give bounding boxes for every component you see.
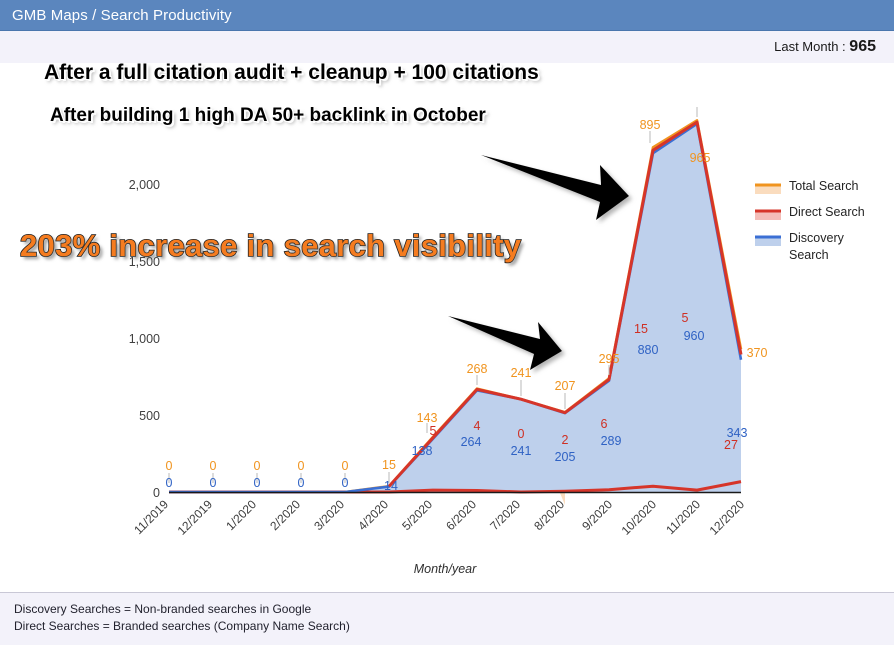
arrow-pointing-to-mid-year-growth bbox=[448, 316, 562, 370]
last-month-stat: Last Month : 965 bbox=[774, 38, 894, 56]
subheader-bar: Last Month : 965 bbox=[0, 31, 894, 63]
legend-label-total-search: Total Search bbox=[789, 179, 859, 193]
x-tick-1: 12/2019 bbox=[175, 497, 216, 538]
discovery-search-area bbox=[169, 124, 741, 492]
y-tick-500: 500 bbox=[139, 409, 160, 423]
label-direct-6: 5 bbox=[430, 424, 437, 438]
label-total-6: 143 bbox=[417, 411, 438, 425]
x-tick-10: 9/2020 bbox=[579, 497, 615, 533]
label-disc-10: 289 bbox=[601, 434, 622, 448]
arrow-pointing-to-october-peak bbox=[481, 155, 629, 220]
label-direct-8: 0 bbox=[518, 427, 525, 441]
x-tick-13: 12/2020 bbox=[707, 497, 748, 538]
footer-note-direct: Direct Searches = Branded searches (Comp… bbox=[14, 618, 894, 635]
y-axis-ticks: 2,000 1,500 1,000 500 0 bbox=[129, 178, 160, 500]
page-title: GMB Maps / Search Productivity bbox=[0, 7, 232, 24]
label-total-3: 0 bbox=[298, 459, 305, 473]
legend-label-discovery-search-line2: Search bbox=[789, 248, 829, 262]
headline-citation-audit: After a full citation audit + cleanup + … bbox=[44, 63, 539, 85]
label-disc-3: 0 bbox=[298, 476, 305, 490]
label-direct-13: 27 bbox=[724, 438, 738, 452]
label-disc-11: 880 bbox=[638, 343, 659, 357]
x-tick-6: 5/2020 bbox=[399, 497, 435, 533]
window-titlebar: GMB Maps / Search Productivity bbox=[0, 0, 894, 31]
headline-backlink: After building 1 high DA 50+ backlink in… bbox=[50, 105, 486, 127]
label-disc-2: 0 bbox=[254, 476, 261, 490]
label-total-10: 295 bbox=[599, 352, 620, 366]
label-total-2: 0 bbox=[254, 459, 261, 473]
legend-label-direct-search: Direct Search bbox=[789, 205, 865, 219]
label-direct-9: 2 bbox=[562, 433, 569, 447]
x-tick-3: 2/2020 bbox=[267, 497, 303, 533]
label-direct-12: 5 bbox=[682, 311, 689, 325]
x-tick-8: 7/2020 bbox=[487, 497, 523, 533]
label-total-8: 241 bbox=[511, 366, 532, 380]
y-tick-1000: 1,000 bbox=[129, 332, 160, 346]
x-axis-title: Month/year bbox=[414, 562, 477, 576]
x-tick-9: 8/2020 bbox=[531, 497, 567, 533]
x-tick-11: 10/2020 bbox=[619, 497, 660, 538]
last-month-label: Last Month : bbox=[774, 39, 846, 54]
x-tick-12: 11/2020 bbox=[663, 497, 703, 537]
x-tick-0: 11/2019 bbox=[131, 497, 171, 537]
footer-note-discovery: Discovery Searches = Non-branded searche… bbox=[14, 601, 894, 618]
search-productivity-area-chart[interactable]: 2,000 1,500 1,000 500 0 bbox=[0, 63, 894, 591]
label-disc-9: 205 bbox=[555, 450, 576, 464]
y-tick-0: 0 bbox=[153, 486, 160, 500]
x-tick-7: 6/2020 bbox=[443, 497, 479, 533]
app-root: GMB Maps / Search Productivity Last Mont… bbox=[0, 0, 894, 645]
y-tick-2000: 2,000 bbox=[129, 178, 160, 192]
x-axis-ticks: 11/2019 12/2019 1/2020 2/2020 3/2020 4/2… bbox=[131, 497, 747, 538]
label-direct-10: 6 bbox=[601, 417, 608, 431]
x-tick-4: 3/2020 bbox=[311, 497, 347, 533]
x-tick-5: 4/2020 bbox=[355, 497, 391, 533]
label-total-1: 0 bbox=[210, 459, 217, 473]
label-disc-8: 241 bbox=[511, 444, 532, 458]
label-total-12: 965 bbox=[690, 151, 711, 165]
footer-notes: Discovery Searches = Non-branded searche… bbox=[0, 592, 894, 645]
chart-canvas: 2,000 1,500 1,000 500 0 bbox=[0, 63, 894, 591]
label-total-5: 15 bbox=[382, 458, 396, 472]
x-tick-2: 1/2020 bbox=[223, 497, 259, 533]
label-disc-6: 138 bbox=[412, 444, 433, 458]
label-disc-12: 960 bbox=[684, 329, 705, 343]
label-disc-7: 264 bbox=[461, 435, 482, 449]
label-disc-1: 0 bbox=[210, 476, 217, 490]
label-total-7: 268 bbox=[467, 362, 488, 376]
label-total-9: 207 bbox=[555, 379, 576, 393]
last-month-value: 965 bbox=[849, 38, 876, 55]
label-direct-11: 15 bbox=[634, 322, 648, 336]
label-disc-0: 0 bbox=[166, 476, 173, 490]
legend-label-discovery-search-line1: Discovery bbox=[789, 231, 845, 245]
label-disc-13: 343 bbox=[727, 426, 748, 440]
label-total-11: 895 bbox=[640, 118, 661, 132]
big-callout-increase: 203% increase in search visibility bbox=[20, 228, 521, 264]
chart-legend[interactable]: Total Search Direct Search Discovery Sea… bbox=[755, 179, 865, 262]
label-total-4: 0 bbox=[342, 459, 349, 473]
label-disc-4: 0 bbox=[342, 476, 349, 490]
label-total-0: 0 bbox=[166, 459, 173, 473]
label-direct-7: 4 bbox=[474, 419, 481, 433]
label-disc-5: 14 bbox=[384, 479, 398, 493]
label-total-13: 370 bbox=[747, 346, 768, 360]
